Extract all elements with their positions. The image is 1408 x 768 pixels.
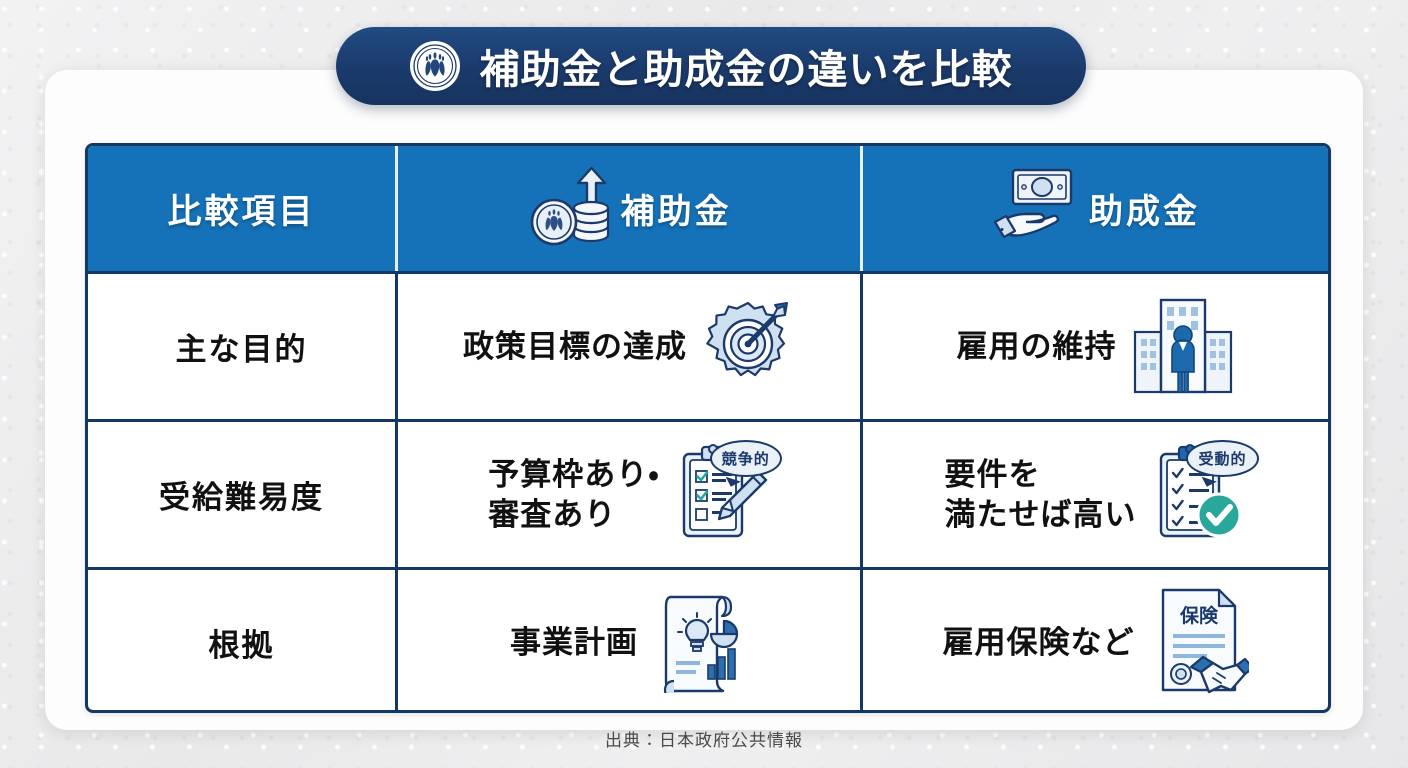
column-header-grant: 助成金	[863, 146, 1328, 271]
row-label-cell: 根拠	[88, 570, 398, 713]
source-note: 出典：日本政府公共情報	[0, 726, 1408, 751]
row-label-cell: 受給難易度	[88, 422, 398, 567]
clipboard-pencil-icon: 競争的	[674, 442, 770, 547]
table-row: 受給難易度 予算枠あり・ 審査あり	[88, 419, 1328, 567]
clipboard-check-icon: 受動的	[1151, 442, 1247, 547]
grant-value: 雇用保険など	[943, 623, 1135, 663]
table-row: 主な目的 政策目標の達成	[88, 271, 1328, 419]
grant-cell: 雇用の維持	[863, 274, 1328, 419]
column-header-item-label: 比較項目	[168, 184, 316, 233]
subsidy-value: 政策目標の達成	[463, 327, 687, 367]
column-header-item: 比較項目	[88, 146, 398, 271]
table-header-row: 比較項目	[88, 146, 1328, 271]
subsidy-cell: 事業計画	[398, 570, 863, 713]
column-header-subsidy-label: 補助金	[621, 184, 732, 233]
insurance-certificate-handshake-icon: 保険	[1149, 584, 1249, 701]
table-row: 根拠 事業計画	[88, 567, 1328, 713]
row-label: 受給難易度	[159, 472, 324, 517]
column-header-grant-label: 助成金	[1089, 184, 1200, 233]
business-plan-scroll-icon	[652, 587, 748, 698]
row-label: 主な目的	[176, 324, 308, 369]
subsidy-cell: 政策目標の達成	[398, 274, 863, 419]
title-banner: 補助金と助成金の違いを比較	[336, 27, 1086, 105]
grant-cell: 雇用保険など 保険	[863, 570, 1328, 713]
page-title: 補助金と助成金の違いを比較	[480, 37, 1013, 95]
subsidy-value: 事業計画	[510, 623, 638, 663]
grant-cell: 要件を 満たせば高い	[863, 422, 1328, 567]
hand-banknote-icon	[991, 165, 1081, 252]
subsidy-cell: 予算枠あり・ 審査あり	[398, 422, 863, 567]
certificate-label: 保険	[1178, 604, 1218, 627]
paulownia-crest-icon	[410, 41, 460, 91]
status-badge: 競争的	[710, 440, 782, 477]
subsidy-value: 予算枠あり・ 審査あり	[488, 455, 660, 534]
grant-value: 雇用の維持	[957, 327, 1117, 367]
grant-value: 要件を 満たせば高い	[945, 455, 1137, 534]
row-label: 根拠	[209, 620, 275, 665]
status-badge: 受動的	[1186, 440, 1258, 477]
row-label-cell: 主な目的	[88, 274, 398, 419]
coins-up-arrow-icon	[527, 163, 613, 254]
gear-target-arrow-icon	[701, 297, 795, 396]
column-header-subsidy: 補助金	[398, 146, 863, 271]
comparison-table: 比較項目	[85, 143, 1331, 713]
office-building-person-icon	[1131, 292, 1235, 401]
